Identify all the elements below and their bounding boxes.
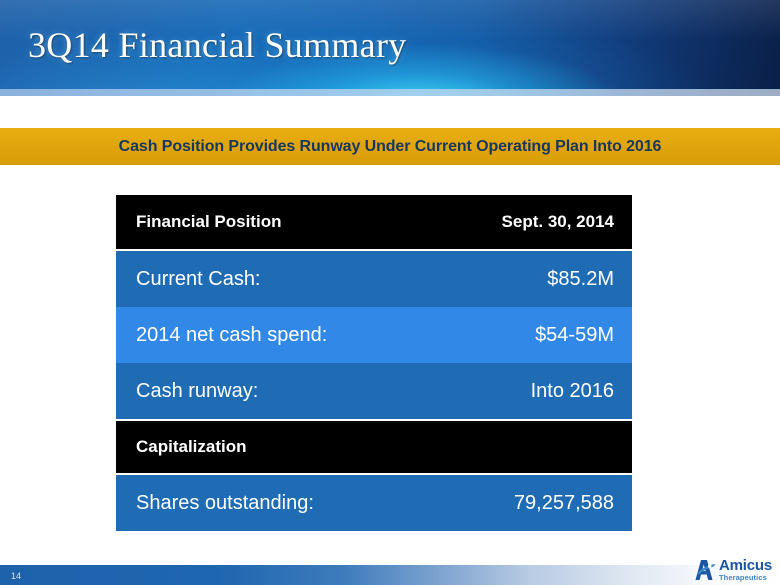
table-header-value: Sept. 30, 2014 [502,212,614,232]
row-label-net-cash-spend: 2014 net cash spend: [136,324,327,347]
row-label-current-cash: Current Cash: [136,268,261,291]
table-section-row-capitalization: Capitalization [116,419,632,475]
header-underline-strip [0,89,780,96]
page-title: 3Q14 Financial Summary [28,24,407,66]
row-value-cash-runway: Into 2016 [531,380,614,403]
table-row: Shares outstanding: 79,257,588 [116,475,632,531]
subtitle-banner: Cash Position Provides Runway Under Curr… [0,128,780,165]
brand-tagline: Therapeutics [719,574,772,582]
slide-canvas: 3Q14 Financial Summary Cash Position Pro… [0,0,780,585]
slide-footer-bar [0,565,780,585]
table-header-row: Financial Position Sept. 30, 2014 [116,195,632,251]
financial-position-table: Financial Position Sept. 30, 2014 Curren… [116,195,632,531]
brand-name: Amicus [719,558,772,573]
table-header-label: Financial Position [136,212,281,232]
table-row: 2014 net cash spend: $54-59M [116,307,632,363]
subtitle-text: Cash Position Provides Runway Under Curr… [119,138,662,156]
row-label-cash-runway: Cash runway: [136,380,258,403]
row-value-shares-outstanding: 79,257,588 [514,492,614,515]
table-row: Cash runway: Into 2016 [116,363,632,419]
table-row: Current Cash: $85.2M [116,251,632,307]
amicus-a-swoosh-icon [694,558,716,582]
brand-wordmark: Amicus Therapeutics [719,558,772,582]
section-label-capitalization: Capitalization [136,437,247,457]
page-number: 14 [11,571,21,581]
row-value-net-cash-spend: $54-59M [535,324,614,347]
brand-logo: Amicus Therapeutics [694,558,772,582]
row-value-current-cash: $85.2M [547,268,614,291]
row-label-shares-outstanding: Shares outstanding: [136,492,314,515]
